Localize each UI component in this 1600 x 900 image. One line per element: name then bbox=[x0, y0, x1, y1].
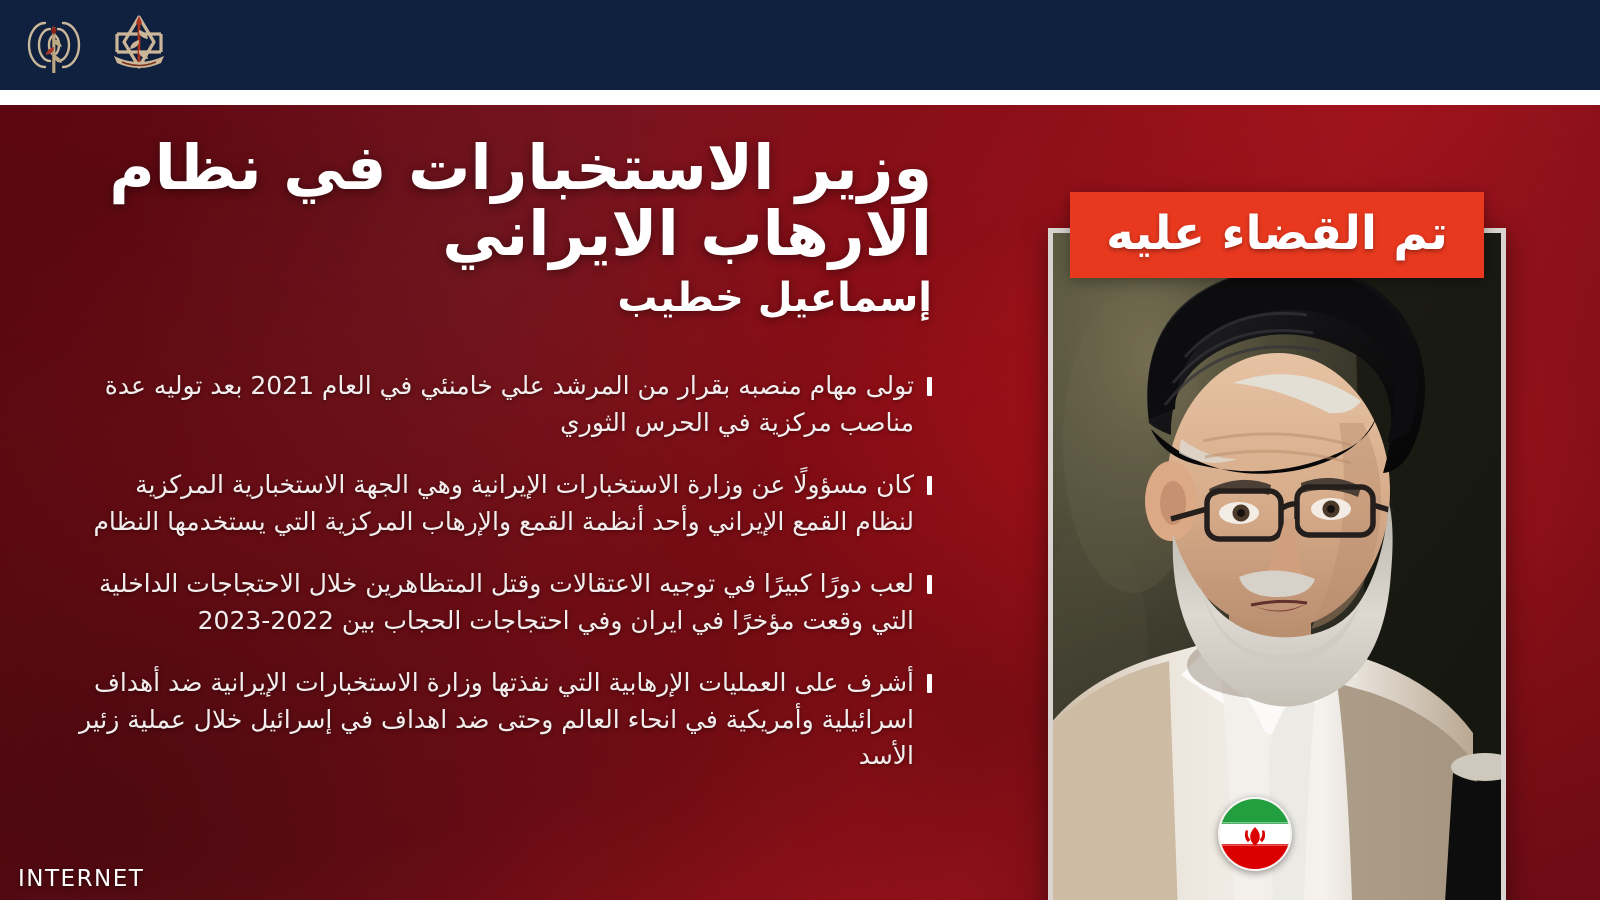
page-title: وزير الاستخبارات في نظام الارهاب الايران… bbox=[75, 135, 932, 266]
status-badge-label: تم القضاء عليه bbox=[1106, 206, 1448, 265]
list-item: أشرف على العمليات الإرهابية التي نفذتها … bbox=[75, 665, 932, 775]
text-column: وزير الاستخبارات في نظام الارهاب الايران… bbox=[75, 135, 960, 801]
header-emblems bbox=[26, 12, 174, 78]
list-item: لعب دورًا كبيرًا في توجيه الاعتقالات وقت… bbox=[75, 566, 932, 639]
list-item: كان مسؤولًا عن وزارة الاستخبارات الإيران… bbox=[75, 467, 932, 540]
status-badge: تم القضاء عليه bbox=[1070, 192, 1484, 278]
list-item-text: تولى مهام منصبه بقرار من المرشد علي خامن… bbox=[105, 371, 914, 437]
person-name: إسماعيل خطيب bbox=[75, 274, 932, 322]
idf-intelligence-corps-emblem bbox=[26, 13, 82, 77]
bullet-marker-icon bbox=[927, 674, 932, 693]
portrait-photo bbox=[1053, 233, 1501, 900]
bullet-list: تولى مهام منصبه بقرار من المرشد علي خامن… bbox=[75, 368, 960, 775]
header-divider bbox=[0, 90, 1600, 105]
bullet-marker-icon bbox=[927, 377, 932, 396]
infographic-stage: وزير الاستخبارات في نظام الارهاب الايران… bbox=[0, 105, 1600, 900]
list-item-text: لعب دورًا كبيرًا في توجيه الاعتقالات وقت… bbox=[99, 569, 914, 635]
bullet-marker-icon bbox=[927, 476, 932, 495]
bullet-marker-icon bbox=[927, 575, 932, 594]
list-item-text: كان مسؤولًا عن وزارة الاستخبارات الإيران… bbox=[93, 470, 914, 536]
header-bar bbox=[0, 0, 1600, 90]
list-item-text: أشرف على العمليات الإرهابية التي نفذتها … bbox=[79, 668, 914, 770]
source-watermark: INTERNET bbox=[18, 866, 144, 892]
idf-insignia-emblem bbox=[104, 12, 174, 78]
list-item: تولى مهام منصبه بقرار من المرشد علي خامن… bbox=[75, 368, 932, 441]
iran-flag-roundel bbox=[1218, 797, 1292, 871]
portrait-photo-frame bbox=[1048, 228, 1506, 900]
